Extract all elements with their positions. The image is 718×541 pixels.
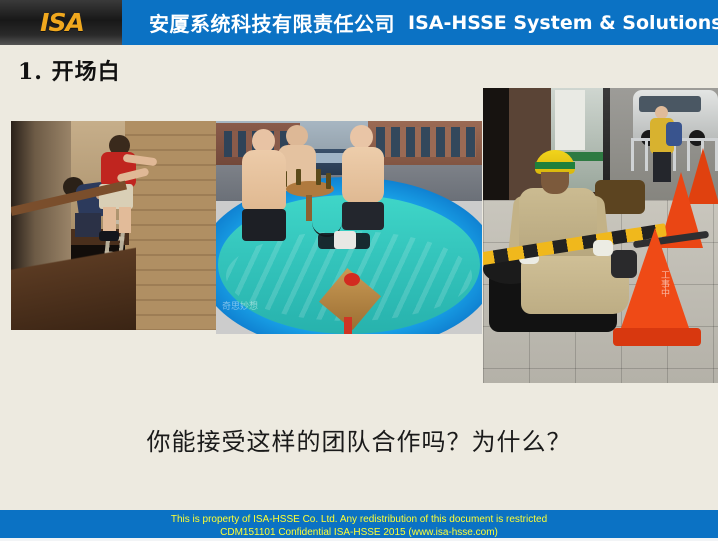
building-right-windows — [376, 127, 476, 157]
photo-manhole-worker: 工事中 — [483, 88, 718, 383]
company-name-en: ISA-HSSE System & Solutions Co. LTD — [408, 12, 718, 34]
bottle-3 — [316, 169, 321, 185]
discussion-question: 你能接受这样的团队合作吗？为什么？ — [0, 422, 718, 457]
hard-hat-stripe — [535, 162, 575, 169]
van-window — [639, 96, 701, 112]
swimmer-b-head — [286, 125, 308, 147]
worker-face — [541, 172, 569, 194]
stair-railing — [11, 209, 136, 330]
swimmer-c-shorts — [342, 202, 384, 230]
isa-logo-icon: ISA — [26, 9, 98, 36]
traffic-cone-base — [613, 328, 701, 346]
slide-header: ISA 安厦系统科技有限责任公司 ISA-HSSE System & Solut… — [0, 0, 718, 45]
pedestrian-backpack — [666, 122, 682, 146]
bottle-4 — [326, 173, 331, 189]
cone-text: 工事中 — [641, 270, 671, 330]
header-title-bar: 安厦系统科技有限责任公司 ISA-HSSE System & Solutions… — [122, 0, 718, 45]
red-strap — [344, 317, 352, 334]
page-title: 1. 开场白 — [18, 54, 121, 86]
footer-line-1: This is property of ISA-HSSE Co. Ltd. An… — [0, 513, 718, 526]
photo-inflatable-pool: 奇思妙想 — [216, 121, 482, 334]
swimmer-a-shorts — [242, 209, 286, 241]
bottle-2 — [296, 169, 301, 185]
swimmer-a-torso — [242, 150, 286, 210]
slide-footer: This is property of ISA-HSSE Co. Ltd. An… — [0, 510, 718, 538]
wall-right — [123, 121, 216, 330]
red-object — [344, 273, 360, 286]
photo-stairwell-ladder — [11, 121, 216, 330]
logo-panel: ISA — [0, 0, 122, 45]
worker-glove-right — [593, 240, 613, 256]
shop-poster — [555, 90, 585, 150]
electrical-appliance — [334, 231, 356, 249]
swimmer-c-head — [350, 125, 373, 149]
swimmer-c-torso — [342, 147, 384, 203]
photo-watermark: 奇思妙想 — [222, 299, 282, 321]
company-name-cn: 安厦系统科技有限责任公司 — [149, 8, 395, 37]
presentation-slide: ISA 安厦系统科技有限责任公司 ISA-HSSE System & Solut… — [0, 0, 718, 541]
